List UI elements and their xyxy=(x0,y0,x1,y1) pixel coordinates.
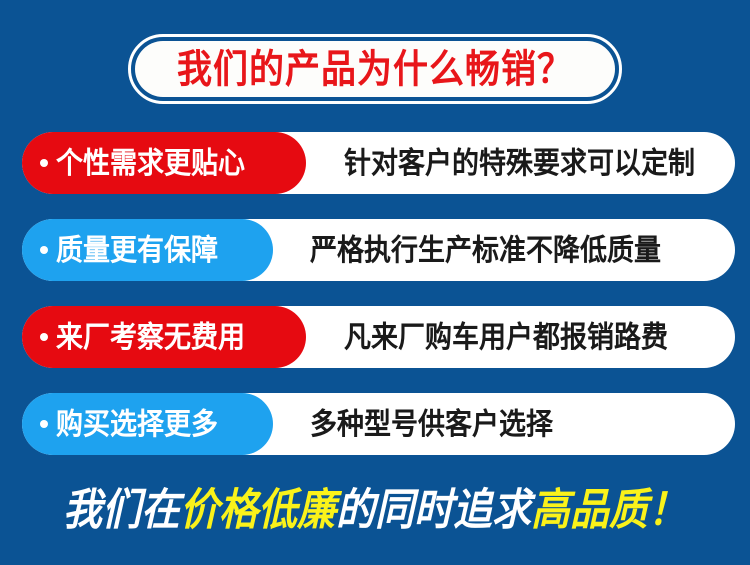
footer-slogan-line: 我们在价格低廉的同时追求高品质！ xyxy=(63,488,687,532)
feature-tag-pill: 个性需求更贴心 xyxy=(22,132,306,194)
feature-tag-label: 质量更有保障 xyxy=(56,235,218,265)
feature-description: 多种型号供客户选择 xyxy=(310,409,553,439)
footer-text-part1: 我们在 xyxy=(63,486,180,534)
page-title: 我们的产品为什么畅销？ xyxy=(177,49,573,88)
feature-tag-pill: 质量更有保障 xyxy=(22,219,273,281)
footer-text-part3: 的同时追求 xyxy=(336,486,531,534)
feature-tag-label: 购买选择更多 xyxy=(56,409,218,439)
title-banner: 我们的产品为什么畅销？ xyxy=(128,34,622,104)
feature-row: 来厂考察无费用 凡来厂购车用户都报销路费 xyxy=(22,306,735,368)
feature-description: 针对客户的特殊要求可以定制 xyxy=(344,148,695,178)
title-banner-inner: 我们的产品为什么畅销？ xyxy=(135,41,615,97)
feature-row: 质量更有保障 严格执行生产标准不降低质量 xyxy=(22,219,735,281)
dot-bullet-icon xyxy=(40,333,48,341)
dot-bullet-icon xyxy=(40,246,48,254)
footer-highlight-quality: 高品质！ xyxy=(531,486,687,534)
feature-description: 凡来厂购车用户都报销路费 xyxy=(344,322,668,352)
dot-bullet-icon xyxy=(40,159,48,167)
feature-tag-pill: 来厂考察无费用 xyxy=(22,306,306,368)
dot-bullet-icon xyxy=(40,420,48,428)
footer-slogan: 我们在价格低廉的同时追求高品质！ xyxy=(0,481,750,539)
feature-tag-label: 个性需求更贴心 xyxy=(56,148,245,178)
footer-highlight-price: 价格低廉 xyxy=(180,486,336,534)
feature-tag-pill: 购买选择更多 xyxy=(22,393,273,455)
feature-row: 个性需求更贴心 针对客户的特殊要求可以定制 xyxy=(22,132,735,194)
feature-description: 严格执行生产标准不降低质量 xyxy=(310,235,661,265)
feature-row: 购买选择更多 多种型号供客户选择 xyxy=(22,393,735,455)
feature-tag-label: 来厂考察无费用 xyxy=(56,322,245,352)
